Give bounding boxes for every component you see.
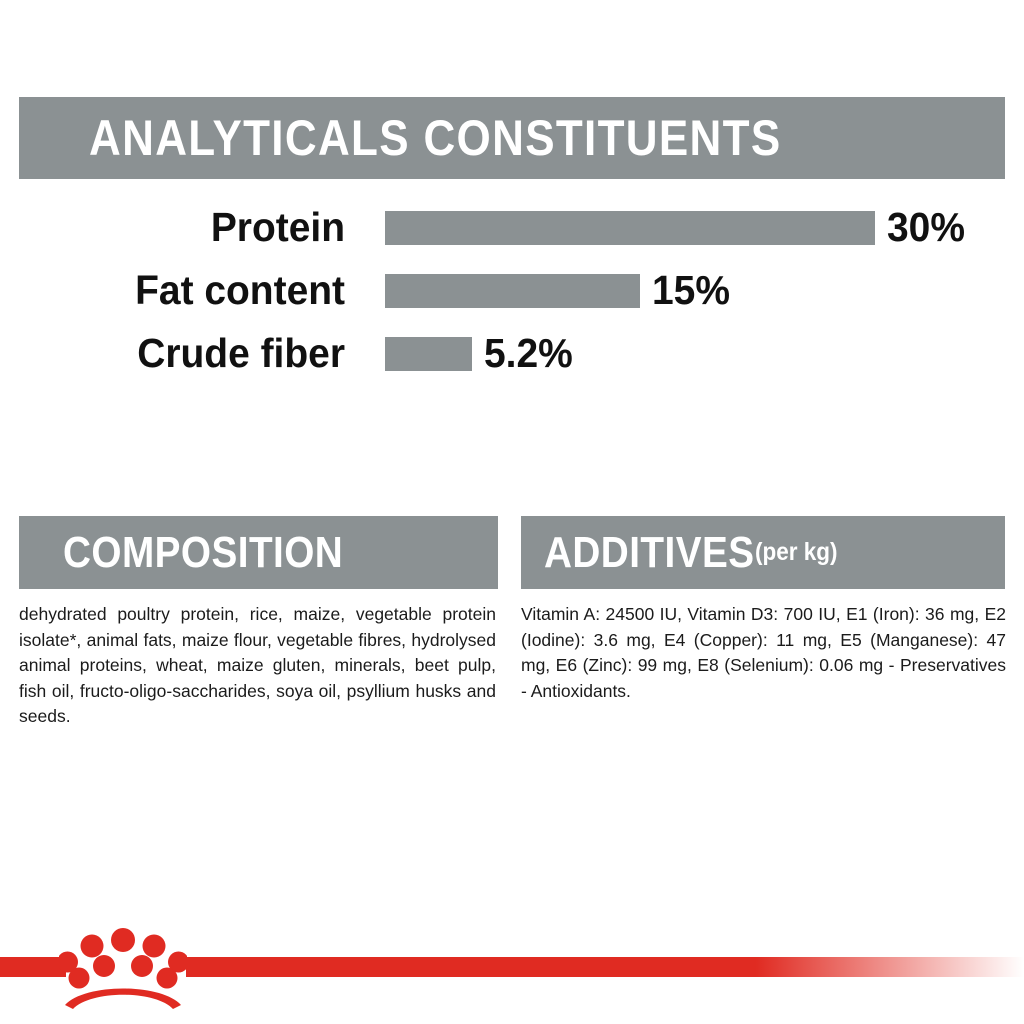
footer-rule-right (186, 957, 1024, 977)
bar-group-protein: 30% (385, 207, 969, 248)
bar-group-crude-fiber: 5.2% (385, 333, 577, 374)
bar-value-fat-content: 15% (652, 270, 730, 311)
nutrient-label-crude-fiber: Crude fiber (17, 333, 345, 374)
nutrient-label-protein: Protein (17, 207, 345, 248)
additives-heading: ADDITIVES (544, 531, 754, 575)
additives-subheading: (per kg) (755, 540, 838, 565)
table-row: Fat content 15% (0, 259, 1024, 322)
additives-text: Vitamin A: 24500 IU, Vitamin D3: 700 IU,… (521, 602, 1006, 704)
analyticals-constituents-title: ANALYTICALS CONSTITUENTS (89, 113, 782, 163)
bar-crude-fiber (385, 337, 472, 371)
analyticals-bar-chart: Protein 30% Fat content 15% Crude fiber … (0, 196, 1024, 385)
composition-banner: COMPOSITION (19, 516, 498, 589)
bar-protein (385, 211, 875, 245)
bar-value-protein: 30% (887, 207, 965, 248)
analyticals-constituents-banner: ANALYTICALS CONSTITUENTS (19, 97, 1005, 179)
bar-fat-content (385, 274, 640, 308)
composition-heading: COMPOSITION (63, 531, 343, 575)
bar-value-crude-fiber: 5.2% (484, 333, 573, 374)
composition-text: dehydrated poultry protein, rice, maize,… (19, 602, 496, 730)
bar-group-fat-content: 15% (385, 270, 734, 311)
royal-canin-crown-logo (59, 925, 187, 1009)
additives-banner: ADDITIVES (per kg) (521, 516, 1005, 589)
nutrient-label-fat-content: Fat content (17, 270, 345, 311)
footer-rule-left (0, 957, 66, 977)
table-row: Protein 30% (0, 196, 1024, 259)
table-row: Crude fiber 5.2% (0, 322, 1024, 385)
